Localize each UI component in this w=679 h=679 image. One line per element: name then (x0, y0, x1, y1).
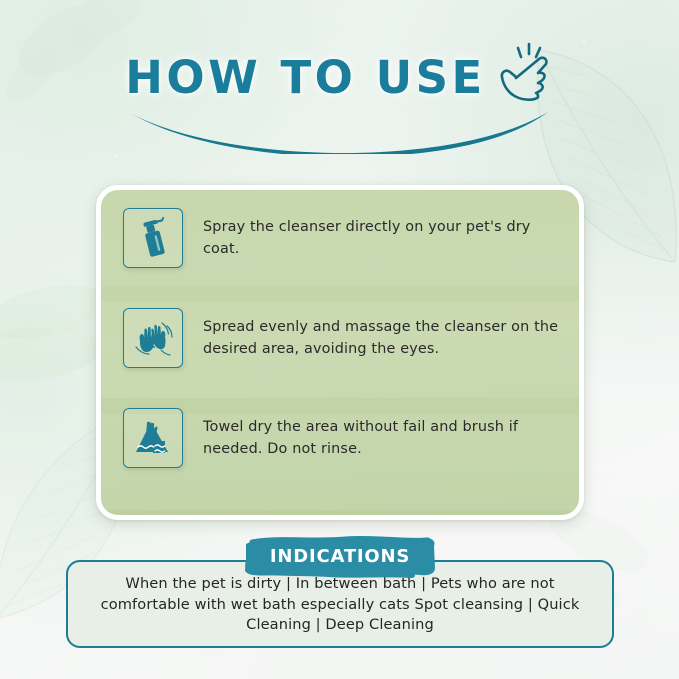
page-title: HOW TO USE (125, 55, 486, 100)
step-text: Towel dry the area without fail and brus… (203, 416, 563, 461)
step-row: Towel dry the area without fail and brus… (123, 408, 563, 468)
step-text: Spray the cleanser directly on your pet'… (203, 216, 563, 261)
page-header: HOW TO USE (0, 46, 679, 162)
steps-card: Spray the cleanser directly on your pet'… (96, 185, 584, 520)
step-text: Spread evenly and massage the cleanser o… (203, 316, 563, 361)
indications-section: When the pet is dirty | In between bath … (66, 560, 614, 648)
swoosh-underline (130, 110, 550, 154)
towel-dry-icon (123, 408, 183, 468)
title-row: HOW TO USE (0, 46, 679, 108)
indications-badge: INDICATIONS (242, 534, 438, 580)
indications-badge-label: INDICATIONS (270, 546, 410, 567)
massaging-hands-icon (123, 308, 183, 368)
tap-hand-icon (498, 39, 554, 106)
step-row: Spread evenly and massage the cleanser o… (123, 308, 563, 368)
spray-bottle-icon (123, 208, 183, 268)
indications-text: When the pet is dirty | In between bath … (86, 574, 594, 636)
how-to-use-infographic: HOW TO USE (0, 0, 679, 679)
step-row: Spray the cleanser directly on your pet'… (123, 208, 563, 268)
